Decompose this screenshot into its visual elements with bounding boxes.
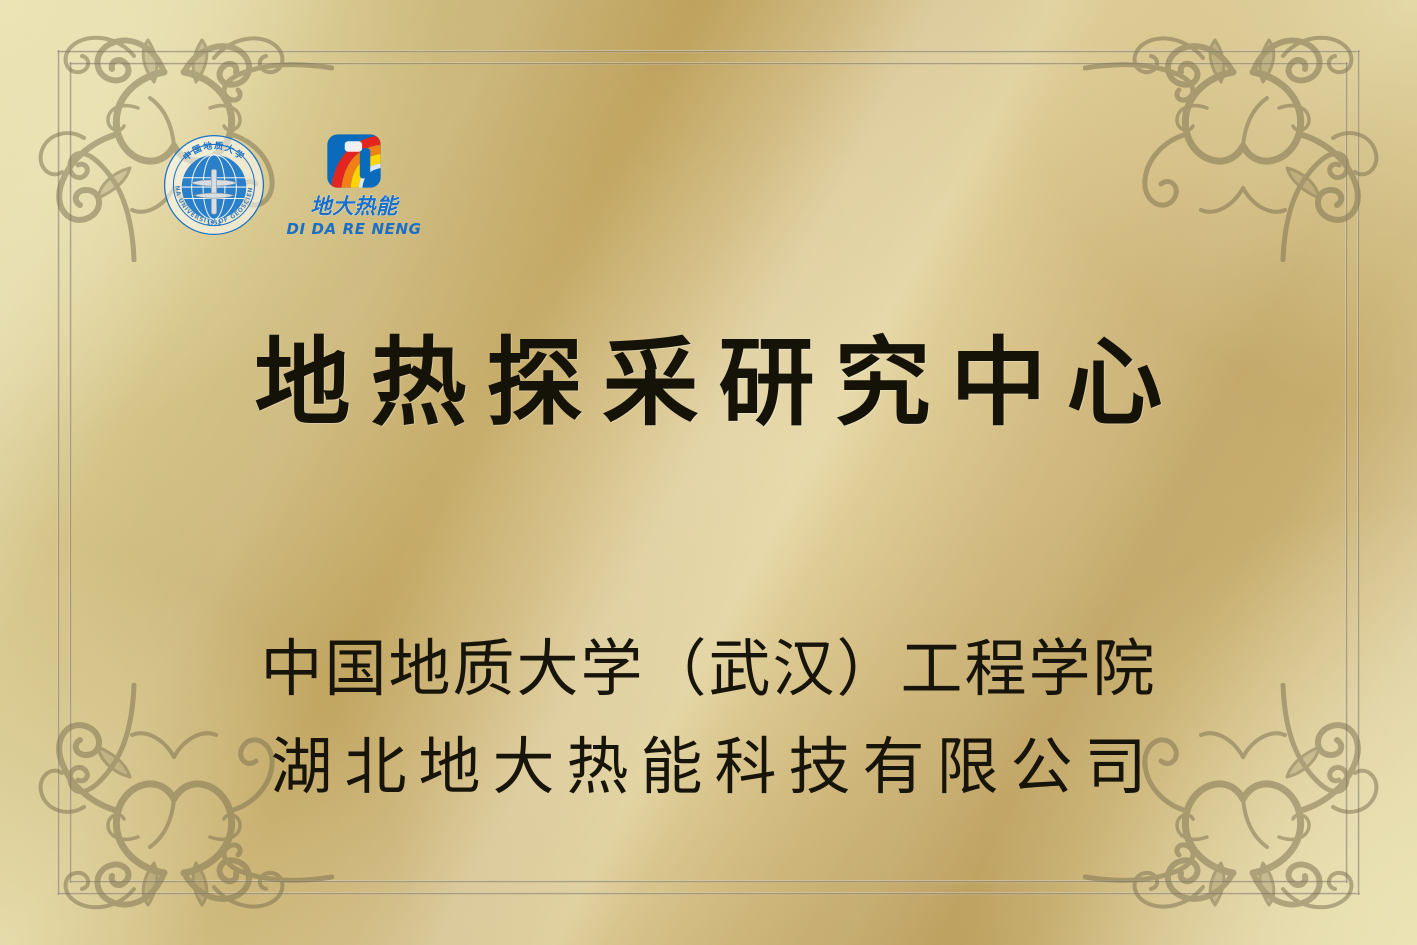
- svg-text:地大热能: 地大热能: [310, 194, 400, 219]
- frame-inner-bottom-line: [69, 880, 1348, 883]
- page-title: 地热探采研究中心: [0, 330, 1417, 438]
- organization-line-2: 湖北地大热能科技有限公司: [0, 718, 1417, 816]
- organization-line-1: 中国地质大学（武汉）工程学院: [0, 620, 1417, 718]
- frame-outer-top-line: [57, 50, 1360, 53]
- company-chinese-name: 地大热能: [284, 191, 424, 221]
- frame-outer-bottom-line: [57, 892, 1360, 895]
- plaque-board: 中国地质大学 CHINA UNIVERSITY OF GEOSCIENCES 1…: [0, 0, 1417, 945]
- company-mark-icon: [325, 132, 383, 190]
- corner-ornament-top-right-icon: [1083, 12, 1403, 262]
- organization-names: 中国地质大学（武汉）工程学院 湖北地大热能科技有限公司: [0, 620, 1417, 816]
- university-emblem-icon: 中国地质大学 CHINA UNIVERSITY OF GEOSCIENCES 1…: [162, 133, 266, 237]
- frame-inner-top-line: [69, 62, 1348, 65]
- company-logo: 地大热能 DI DA RE NENG: [284, 132, 424, 237]
- company-english-name: DI DA RE NENG: [286, 222, 421, 237]
- logo-row: 中国地质大学 CHINA UNIVERSITY OF GEOSCIENCES 1…: [162, 132, 424, 237]
- svg-text:1952: 1952: [207, 220, 222, 226]
